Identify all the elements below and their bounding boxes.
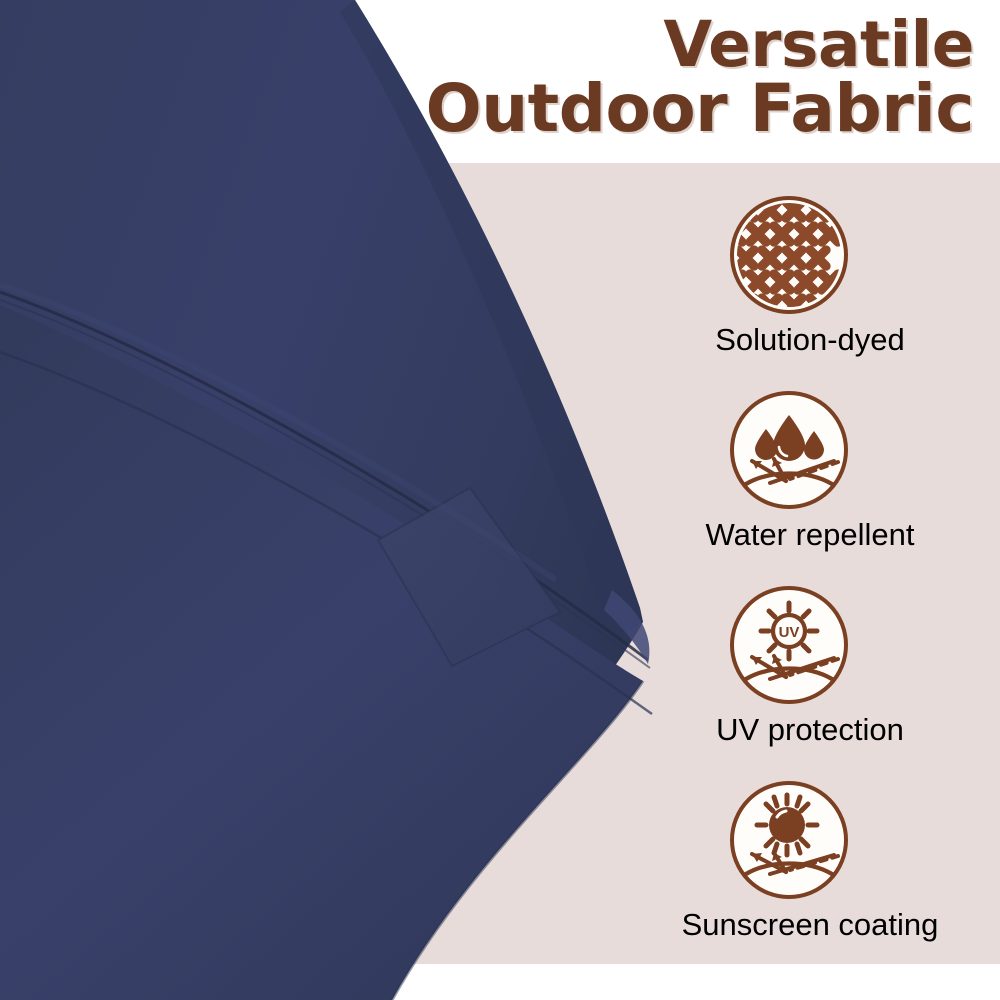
sunscreen-sun-icon xyxy=(730,781,848,899)
feature-item-sunscreen-coating: Sunscreen coating xyxy=(625,781,995,976)
feature-list: Solution-dyed xyxy=(625,196,995,976)
page-title-line-1: Versatile xyxy=(374,14,974,76)
feature-item-uv-protection: UV xyxy=(625,586,995,781)
uv-sun-label: UV xyxy=(779,624,800,641)
feature-item-water-repellent: Water repellent xyxy=(625,391,995,586)
feature-label-sunscreen-coating: Sunscreen coating xyxy=(625,907,995,943)
page-title-line-2: Outdoor Fabric xyxy=(374,76,974,141)
page-title: Versatile Outdoor Fabric xyxy=(374,14,974,142)
uv-sun-shield-icon: UV xyxy=(730,586,848,704)
feature-item-solution-dyed: Solution-dyed xyxy=(625,196,995,391)
feature-label-solution-dyed: Solution-dyed xyxy=(625,322,995,358)
water-droplet-repel-icon xyxy=(730,391,848,509)
feature-label-uv-protection: UV protection xyxy=(625,712,995,748)
infographic-canvas: Versatile Outdoor Fabric xyxy=(0,0,1000,1000)
woven-fabric-icon xyxy=(730,196,848,314)
feature-label-water-repellent: Water repellent xyxy=(625,517,995,553)
